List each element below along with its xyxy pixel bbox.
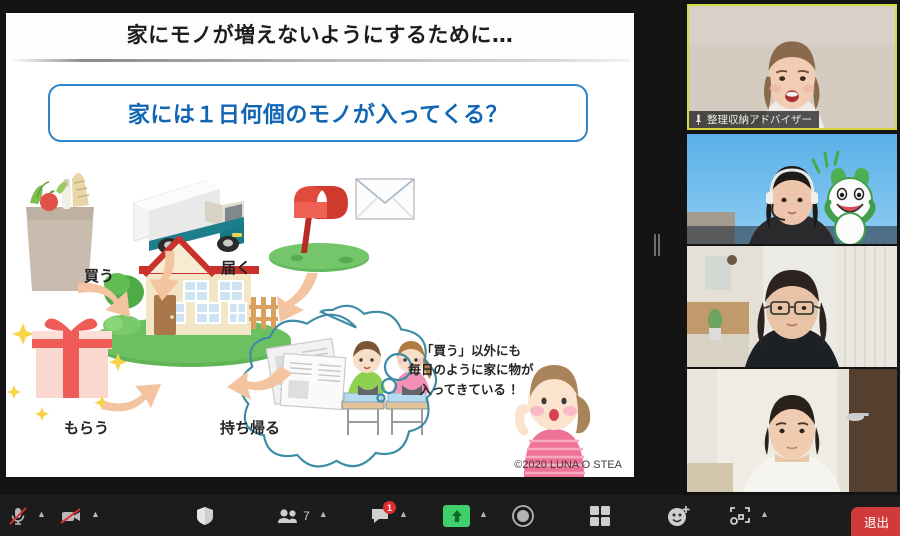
- toolbar-participants-group: 7 ▲: [277, 495, 328, 536]
- thought-bubble-text: 「買う」以外にも 毎日のように家に物が 入ってきている ！: [376, 341, 566, 399]
- toolbar-reactions-group: [667, 495, 691, 536]
- title-divider: [10, 59, 630, 62]
- chat-unread-badge: 1: [383, 501, 396, 514]
- envelope-icon: [356, 179, 414, 219]
- leave-meeting-button[interactable]: 退出: [851, 507, 900, 536]
- record-button[interactable]: [512, 495, 534, 536]
- chat-menu-caret[interactable]: ▲: [399, 510, 408, 519]
- slide-question-text: 家には１日何個のモノが入ってくる？: [128, 97, 508, 129]
- toolbar-audio-group: ▲: [8, 495, 46, 536]
- video-feed-4: [687, 369, 897, 492]
- video-tile-4[interactable]: [687, 369, 897, 492]
- security-button[interactable]: [195, 495, 215, 536]
- video-tile-3[interactable]: [687, 246, 897, 367]
- delivery-truck-icon: [134, 181, 244, 254]
- zoom-meeting-window: 家にモノが増えないようにするために… 家には１日何個のモノが入ってくる？: [0, 0, 900, 536]
- video-menu-caret[interactable]: ▲: [91, 510, 100, 519]
- remote-menu-caret[interactable]: ▲: [760, 510, 769, 519]
- slide-title: 家にモノが増えないようにするために…: [6, 19, 634, 49]
- toolbar-record-group: [512, 495, 534, 536]
- pin-icon: [694, 114, 703, 125]
- toolbar-security-group: [195, 495, 215, 536]
- toolbar-chat-group: 1 ▲: [370, 495, 408, 536]
- toolbar-breakout-group: [589, 495, 611, 536]
- participants-count: 7: [303, 509, 310, 523]
- record-icon: [512, 505, 534, 527]
- video-feed-3: [687, 246, 897, 367]
- video-tile-1[interactable]: 整理収納アドバイザー: [687, 4, 897, 130]
- remote-control-icon: [729, 506, 751, 526]
- reactions-button[interactable]: [667, 495, 691, 536]
- chat-button[interactable]: 1: [370, 495, 390, 536]
- share-screen-button[interactable]: [443, 495, 470, 536]
- shield-security-icon: [195, 506, 215, 526]
- video-off-icon: [60, 506, 82, 526]
- share-menu-caret[interactable]: ▲: [479, 510, 488, 519]
- mute-button[interactable]: [8, 495, 28, 536]
- microphone-muted-icon: [8, 506, 28, 526]
- audio-menu-caret[interactable]: ▲: [37, 510, 46, 519]
- slide-title-bar: 家にモノが増えないようにするために…: [6, 13, 634, 59]
- breakout-rooms-icon: [589, 505, 611, 527]
- caption-receive: もらう: [64, 417, 109, 438]
- participants-button[interactable]: 7: [277, 495, 310, 536]
- participants-icon: [277, 508, 299, 524]
- participant-name-1: 整理収納アドバイザー: [707, 112, 812, 127]
- video-gallery: 整理収納アドバイザー: [684, 0, 900, 495]
- reactions-icon: [667, 505, 691, 527]
- slide-illustration: 買う 届く もらう 持ち帰る 「買う」以外にも 毎日のように家に物が 入ってきて…: [6, 145, 634, 477]
- caption-deliver: 届く: [221, 257, 251, 278]
- participant-nametag-1: 整理収納アドバイザー: [689, 111, 819, 128]
- mailbox-icon: [269, 186, 369, 272]
- video-tile-2[interactable]: [687, 134, 897, 244]
- slide-question-box: 家には１日何個のモノが入ってくる？: [48, 84, 588, 142]
- toolbar-remote-group: ▲: [729, 495, 769, 536]
- breakout-rooms-button[interactable]: [589, 495, 611, 536]
- screen-share-area: 家にモノが増えないようにするために… 家には１日何個のモノが入ってくる？: [0, 0, 682, 495]
- toolbar-video-group: ▲: [60, 495, 100, 536]
- participants-menu-caret[interactable]: ▲: [319, 510, 328, 519]
- toolbar-share-group: ▲: [443, 495, 488, 536]
- caption-bring-home: 持ち帰る: [220, 417, 280, 438]
- start-video-button[interactable]: [60, 495, 82, 536]
- caption-buy: 買う: [84, 265, 114, 286]
- slide-copyright: ©2020 LUNA O STEA: [514, 459, 622, 471]
- share-screen-icon: [443, 505, 470, 527]
- video-feed-2: [687, 134, 897, 244]
- meeting-toolbar: ▲ ▲: [0, 495, 900, 536]
- split-drag-handle[interactable]: [653, 234, 660, 256]
- remote-control-button[interactable]: [729, 495, 751, 536]
- presentation-slide: 家にモノが増えないようにするために… 家には１日何個のモノが入ってくる？: [6, 13, 634, 477]
